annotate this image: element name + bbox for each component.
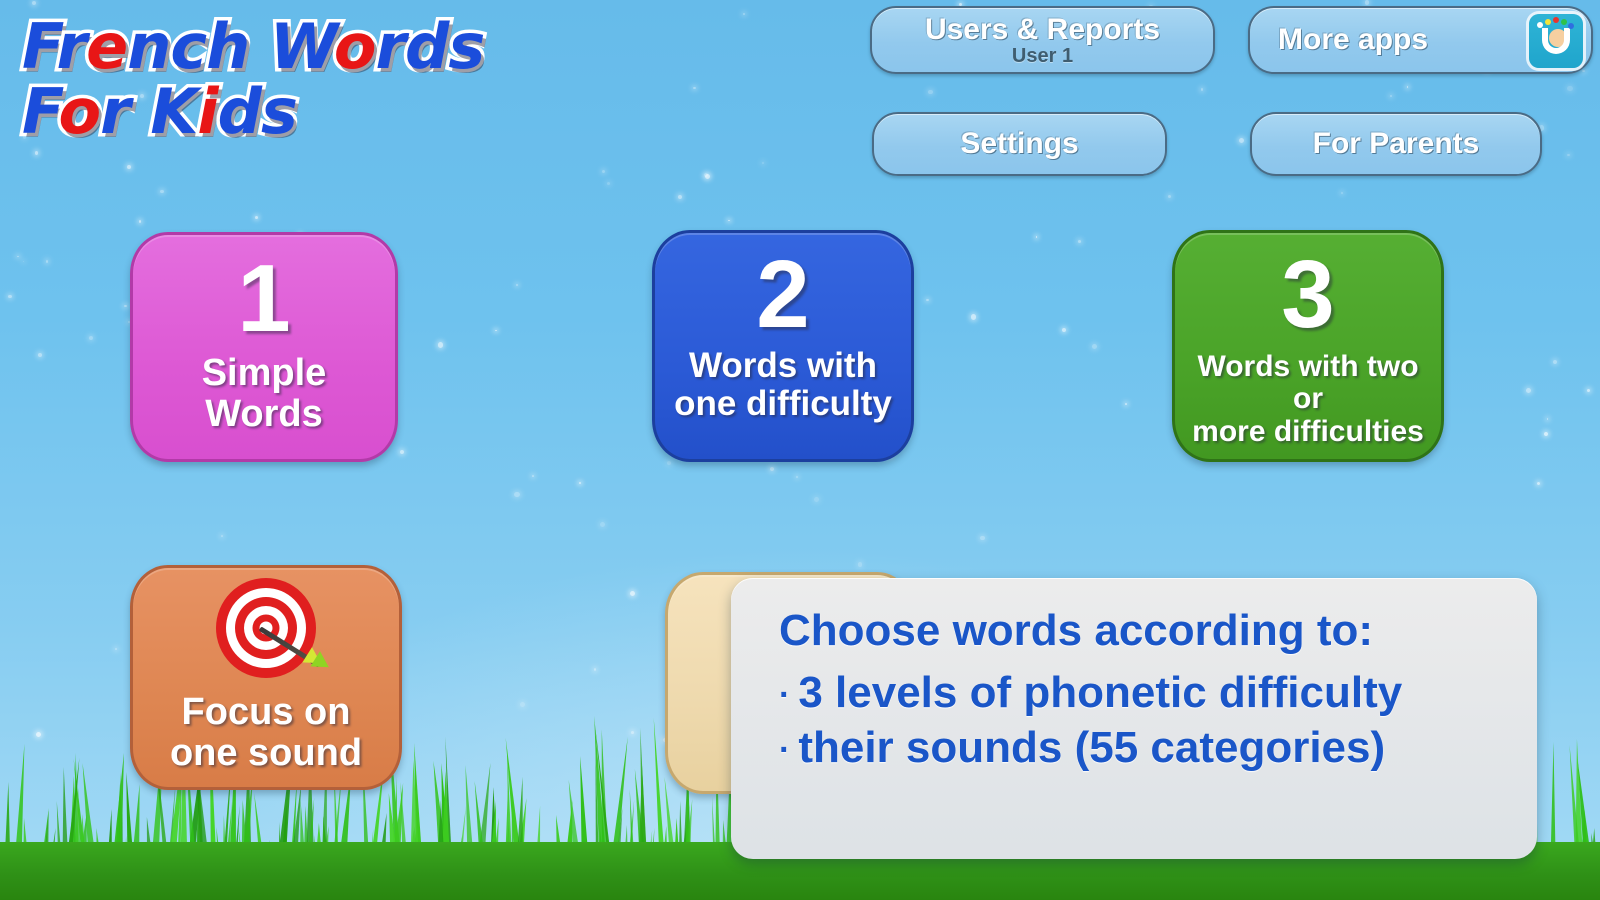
info-popup: Choose words according to: ·3 levels of …: [731, 578, 1537, 859]
more-apps-button[interactable]: More apps: [1248, 6, 1593, 74]
focus-tile-caption-line2: one sound: [170, 733, 362, 774]
app-store-icon-dot: [1561, 19, 1567, 25]
level-3-number: 3: [1281, 247, 1334, 343]
bullet-icon: ·: [779, 676, 790, 714]
level-2-caption-line2: one difficulty: [674, 385, 892, 423]
current-user-label: User 1: [1012, 45, 1073, 68]
info-popup-heading: Choose words according to:: [779, 606, 1503, 656]
level-1-number: 1: [237, 251, 290, 347]
level-3-caption: Words with two or more difficulties: [1175, 351, 1441, 448]
title-line-1: French Words: [22, 18, 484, 75]
users-and-reports-button[interactable]: Users & Reports User 1: [870, 6, 1215, 74]
app-store-icon-dot: [1553, 17, 1559, 23]
focus-on-one-sound-tile[interactable]: Focus on one sound: [130, 565, 402, 790]
focus-tile-caption-line1: Focus on: [170, 692, 362, 733]
title-line-2: For Kids: [22, 83, 484, 140]
app-store-icon-dot: [1568, 23, 1574, 29]
app-store-icon-u: [1542, 28, 1570, 54]
level-2-caption: Words with one difficulty: [664, 347, 902, 423]
target-icon: [210, 584, 322, 688]
for-parents-button[interactable]: For Parents: [1250, 112, 1542, 176]
level-1-caption-line1: Simple: [202, 353, 327, 394]
info-popup-item-text: 3 levels of phonetic difficulty: [798, 668, 1402, 717]
info-popup-item-text: their sounds (55 categories): [798, 723, 1385, 772]
page-title: French Words For Kids: [22, 18, 484, 140]
focus-tile-caption: Focus on one sound: [160, 692, 372, 774]
app-store-icon-dot: [1545, 19, 1551, 25]
level-1-tile[interactable]: 1 Simple Words: [130, 232, 398, 462]
info-popup-item: ·3 levels of phonetic difficulty: [779, 666, 1503, 721]
level-3-caption-line2: more difficulties: [1185, 416, 1431, 448]
level-2-caption-line1: Words with: [674, 347, 892, 385]
more-apps-label: More apps: [1278, 23, 1428, 57]
level-3-tile[interactable]: 3 Words with two or more difficulties: [1172, 230, 1444, 462]
app-store-icon: [1529, 14, 1583, 68]
bullet-icon: ·: [779, 731, 790, 769]
users-and-reports-label: Users & Reports: [925, 13, 1160, 47]
info-popup-item: ·their sounds (55 categories): [779, 721, 1503, 776]
level-1-caption: Simple Words: [192, 353, 337, 435]
level-2-tile[interactable]: 2 Words with one difficulty: [652, 230, 914, 462]
for-parents-label: For Parents: [1313, 127, 1480, 161]
app-store-icon-dot: [1537, 22, 1543, 28]
level-2-number: 2: [756, 247, 809, 343]
settings-label: Settings: [960, 127, 1078, 161]
level-3-caption-line1: Words with two or: [1185, 351, 1431, 416]
level-1-caption-line2: Words: [202, 394, 327, 435]
settings-button[interactable]: Settings: [872, 112, 1167, 176]
